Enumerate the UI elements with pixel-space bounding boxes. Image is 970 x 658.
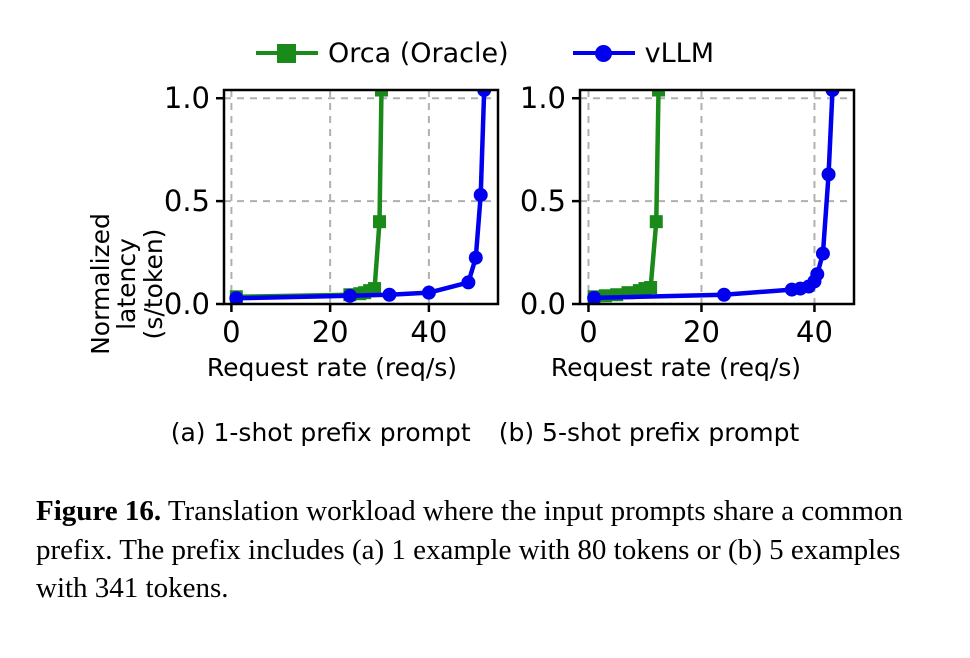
figure-caption-text: Translation workload where the input pro… — [36, 495, 903, 604]
svg-text:1.0: 1.0 — [164, 81, 210, 115]
svg-text:0.0: 0.0 — [520, 287, 566, 321]
svg-text:0.5: 0.5 — [164, 184, 210, 218]
figure-caption: Figure 16. Translation workload where th… — [36, 492, 942, 608]
y-axis-label-line1: Normalized latency — [88, 174, 141, 394]
legend-entry-vllm: vLLM — [573, 40, 714, 67]
chart-panel-a: 0.00.51.002040 Request rate (req/s) — [150, 78, 510, 348]
svg-text:0.0: 0.0 — [164, 287, 210, 321]
svg-text:0.5: 0.5 — [520, 184, 566, 218]
figure-caption-label: Figure 16. — [36, 495, 161, 527]
x-axis-label-b: Request rate (req/s) — [516, 353, 836, 382]
legend-label-vllm: vLLM — [645, 40, 714, 67]
plot-svg-b: 0.00.51.002040 — [506, 78, 866, 348]
x-axis-label-a: Request rate (req/s) — [172, 353, 492, 382]
plot-svg-a: 0.00.51.002040 — [150, 78, 510, 348]
svg-text:40: 40 — [410, 315, 447, 348]
svg-text:0: 0 — [222, 315, 240, 348]
svg-text:20: 20 — [312, 315, 349, 348]
chart-panel-b: 0.00.51.002040 Request rate (req/s) — [506, 78, 866, 348]
legend-label-orca: Orca (Oracle) — [328, 40, 509, 67]
legend-entry-orca: Orca (Oracle) — [256, 40, 509, 67]
subcaption-b: (b) 5-shot prefix prompt — [499, 418, 800, 447]
figure-plot-area: Normalized latency (s/token) 0.00.51.002… — [0, 78, 970, 458]
chart-legend: Orca (Oracle) vLLM — [0, 28, 970, 78]
subcaption-a: (a) 1-shot prefix prompt — [171, 418, 471, 447]
svg-text:20: 20 — [683, 315, 720, 348]
subcaption-row: (a) 1-shot prefix prompt (b) 5-shot pref… — [0, 418, 970, 447]
legend-square-marker-icon — [256, 42, 318, 64]
y-axis-label: Normalized latency (s/token) — [88, 174, 148, 394]
svg-text:1.0: 1.0 — [520, 81, 566, 115]
svg-text:40: 40 — [796, 315, 833, 348]
svg-text:0: 0 — [579, 315, 597, 348]
legend-circle-marker-icon — [573, 42, 635, 64]
